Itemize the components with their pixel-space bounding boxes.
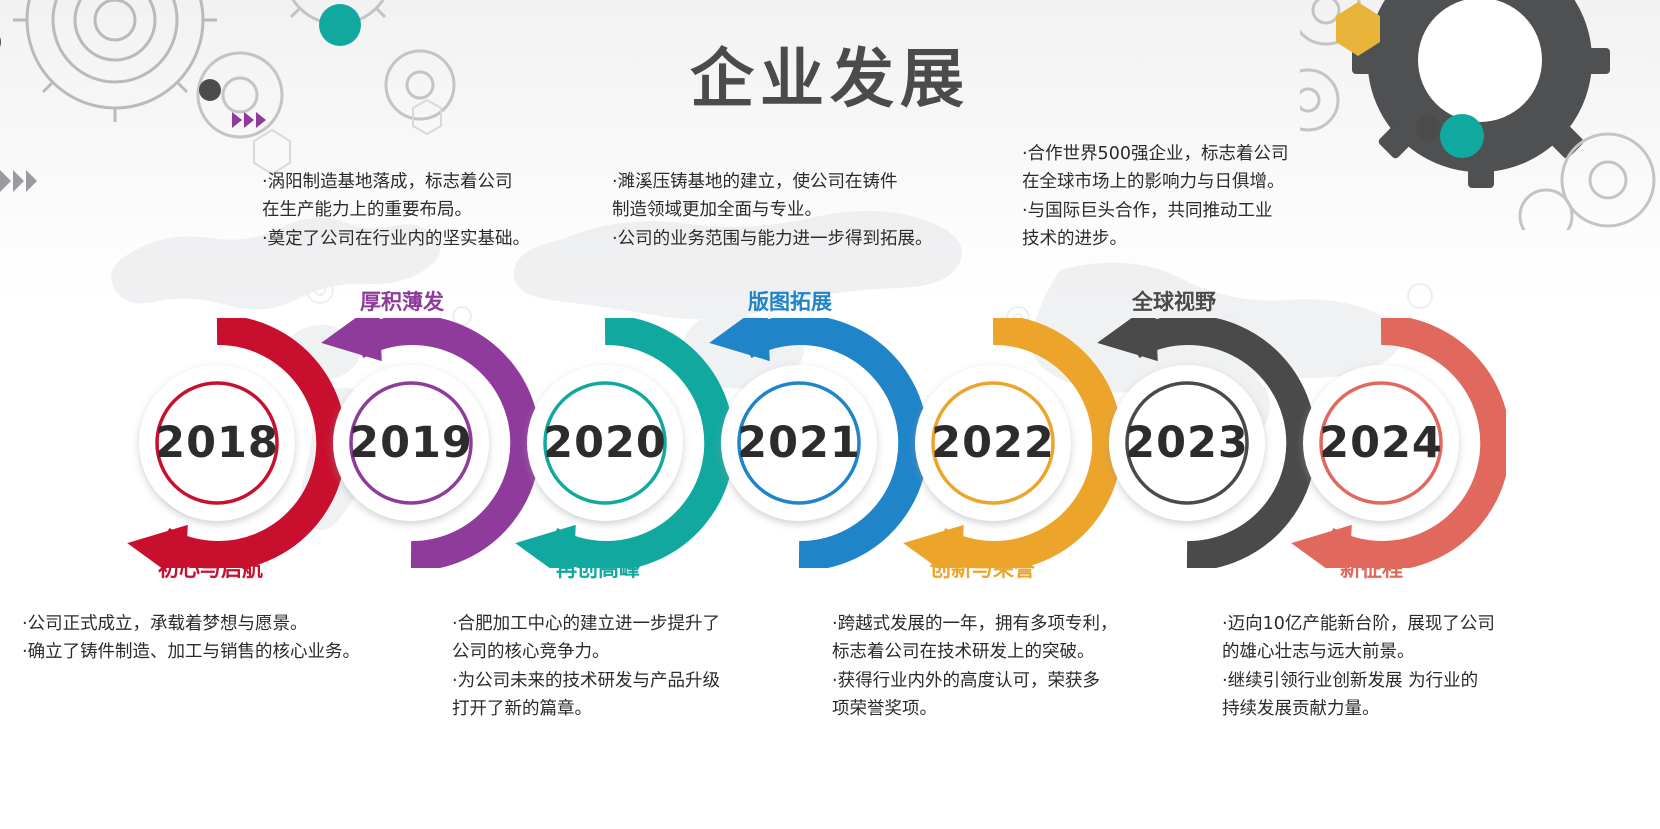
phase-label-2024: 新征程: [1340, 553, 1403, 583]
note-2021: ·濉溪压铸基地的建立，使公司在铸件 制造领域更加全面与专业。 ·公司的业务范围与…: [612, 168, 982, 253]
timeline: 2018 2019: [0, 318, 1660, 568]
phase-label-2023: 全球视野: [1132, 286, 1216, 316]
note-2024: ·迈向10亿产能新台阶，展现了公司 的雄心壮志与远大前景。 ·继续引领行业创新发…: [1222, 610, 1552, 723]
timeline-year-2024: 2024: [1256, 318, 1506, 568]
phase-label-2018: 初心与启航: [158, 553, 263, 583]
note-2018: ·公司正式成立，承载着梦想与愿景。 ·确立了铸件制造、加工与销售的核心业务。: [22, 610, 422, 667]
note-2022: ·跨越式发展的一年，拥有多项专利， 标志着公司在技术研发上的突破。 ·获得行业内…: [832, 610, 1182, 723]
phase-label-2020: 再创高峰: [556, 553, 640, 583]
phase-label-2021: 版图拓展: [748, 286, 832, 316]
note-2019: ·涡阳制造基地落成，标志着公司 在生产能力上的重要布局。 ·奠定了公司在行业内的…: [262, 168, 562, 253]
triangle-marks-gray: [0, 170, 46, 192]
phase-label-2019: 厚积薄发: [360, 286, 444, 316]
timeline-node-2024[interactable]: 2024: [1256, 318, 1506, 568]
phase-label-2022: 创新与荣誉: [930, 553, 1035, 583]
note-2023: ·合作世界500强企业，标志着公司 在全球市场上的影响力与日俱增。 ·与国际巨头…: [1022, 140, 1352, 253]
note-2020: ·合肥加工中心的建立进一步提升了 公司的核心竞争力。 ·为公司未来的技术研发与产…: [452, 610, 782, 723]
page-title: 企业发展: [0, 28, 1660, 120]
